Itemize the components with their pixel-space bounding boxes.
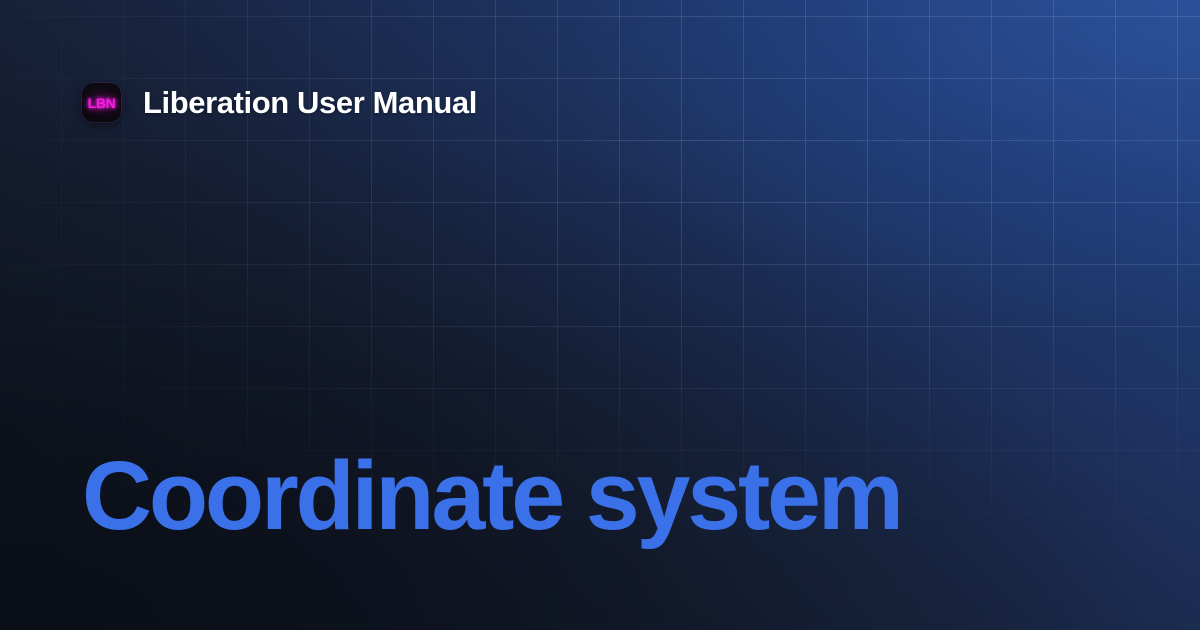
card-content: LBN Liberation User Manual Coordinate sy…: [0, 0, 1200, 630]
logo-text: LBN: [88, 96, 116, 110]
page-title: Coordinate system: [82, 445, 901, 548]
site-title: Liberation User Manual: [143, 87, 477, 118]
card-header: LBN Liberation User Manual: [82, 83, 477, 122]
og-preview-card: LBN Liberation User Manual Coordinate sy…: [0, 0, 1200, 630]
lbn-logo-icon: LBN: [82, 83, 121, 122]
